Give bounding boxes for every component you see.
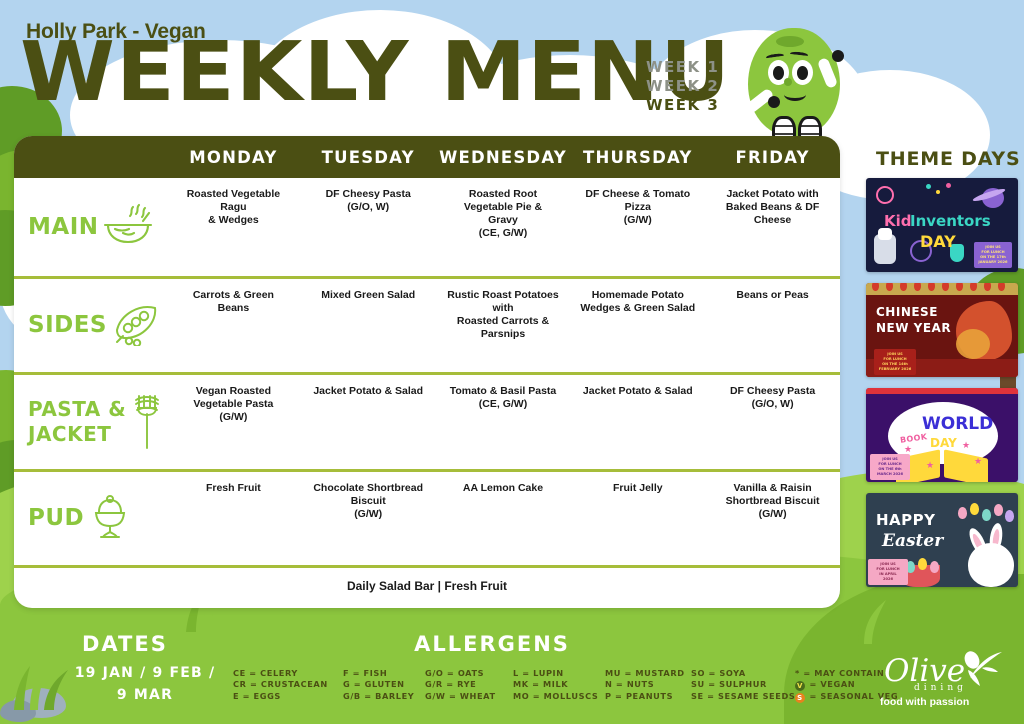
allergen-item: G/W = WHEAT [425,691,503,702]
table-row: PUD Fresh Fruit Chocolate [14,472,840,568]
soup-bowl-icon [103,203,153,252]
theme-poster-world-book-day[interactable]: ★ ★ ★ ★ BOOK WORLD DAY JOIN US FOR LUNCH… [866,388,1018,482]
vegan-badge-icon: V [795,681,805,691]
menu-cell: Fruit Jelly [570,472,705,565]
table-row: PASTA & JACKET Vegan Roasted Ve [14,375,840,472]
week-option-2[interactable]: WEEK 2 [646,77,719,96]
dates-title: DATES [82,632,168,656]
poster-line: WORLD [922,414,993,434]
allergen-item: P = PEANUTS [605,691,681,702]
menu-table-card: MONDAY TUESDAY WEDNESDAY THURSDAY FRIDAY… [14,136,840,608]
menu-cell: Homemade Potato Wedges & Green Salad [570,279,705,372]
pea-pod-icon [111,300,165,351]
grass-tuft [838,584,908,644]
poster-line: CHINESE [876,305,938,319]
allergen-item: SO = SOYA [691,668,785,679]
menu-cell: Roasted Vegetable Ragu & Wedges [166,178,301,276]
seasonal-badge-icon: S [795,693,805,703]
allergen-item: MK = MILK [513,679,595,690]
allergen-item: MO = MOLLUSCS [513,691,595,702]
allergen-item: N = NUTS [605,679,681,690]
theme-days-title: THEME DAYS [876,148,1020,170]
poster-line: HAPPY [876,511,936,529]
allergen-column: CE = CELERY CR = CRUSTACEAN E = EGGS [233,668,343,703]
menu-cell: DF Cheese & Tomato Pizza (G/W) [570,178,705,276]
allergen-item: CR = CRUSTACEAN [233,679,333,690]
poster-tag: JOIN US FOR LUNCH ON THE 6th MARCH 2026 [870,454,910,480]
poster-tag: JOIN US FOR LUNCH IN APRIL 2026 [868,559,908,585]
allergen-item: G/O = OATS [425,668,503,679]
allergen-item: SE = SESAME SEEDS [691,691,785,702]
row-label-text: PUD [28,506,84,531]
theme-poster-kid-inventors-day[interactable]: Kid Inventors DAY JOIN US FOR LUNCH ON T… [866,178,1018,272]
page-title: WEEKLY MENU [20,32,731,114]
allergen-item: F = FISH [343,668,415,679]
column-header-wednesday: WEDNESDAY [436,148,571,167]
logo-tagline: food with passion [880,696,969,708]
menu-cell: Jacket Potato & Salad [301,375,436,469]
poster-tag: JOIN US FOR LUNCH ON THE 17th JANUARY 20… [974,242,1012,268]
allergen-label: = VEGAN [809,679,855,689]
week-option-1[interactable]: WEEK 1 [646,58,719,77]
poster-line: NEW YEAR [876,321,951,335]
menu-cell: DF Cheesy Pasta (G/O, W) [301,178,436,276]
row-label-sides: SIDES [14,279,166,372]
theme-poster-chinese-new-year[interactable]: CHINESE NEW YEAR JOIN US FOR LUNCH ON TH… [866,283,1018,377]
allergen-column: L = LUPIN MK = MILK MO = MOLLUSCS [513,668,605,703]
column-header-friday: FRIDAY [705,148,840,167]
week-option-3[interactable]: WEEK 3 [646,96,719,115]
menu-cell: Fresh Fruit [166,472,301,565]
allergen-label: = MAY CONTAIN [803,668,884,678]
menu-cell: Tomato & Basil Pasta (CE, G/W) [436,375,571,469]
row-label-text: PASTA & JACKET [28,397,126,447]
row-label-pasta-jacket: PASTA & JACKET [14,375,166,469]
poster-line: Inventors [910,212,991,230]
allergen-item: MU = MUSTARD [605,668,681,679]
allergen-column: F = FISH G = GLUTEN G/B = BARLEY [343,668,425,703]
poster-line: DAY [920,232,956,251]
olive-mascot-icon [740,28,848,153]
allergen-item: G = GLUTEN [343,679,415,690]
poster-line: Easter [882,531,943,551]
menu-cell: Roasted Root Vegetable Pie & Gravy (CE, … [436,178,571,276]
allergen-column: SO = SOYA SU = SULPHUR SE = SESAME SEEDS [691,668,795,703]
menu-cell: Vanilla & Raisin Shortbread Biscuit (G/W… [705,472,840,565]
allergen-item: G/R = RYE [425,679,503,690]
poster-line: Kid [884,212,912,230]
menu-poster: Holly Park - Vegan WEEKLY MENU WEEK 1 WE… [0,0,1024,724]
menu-cell: Jacket Potato & Salad [570,375,705,469]
table-footer-row: Daily Salad Bar | Fresh Fruit [14,568,840,604]
row-label-text: MAIN [28,215,99,240]
menu-cell: Carrots & Green Beans [166,279,301,372]
menu-cell: Beans or Peas [705,279,840,372]
fork-pasta-icon [130,390,164,455]
logo-sub: dining [914,683,967,693]
poster-tag: JOIN US FOR LUNCH ON THE 14th FEBRUARY 2… [874,349,916,375]
theme-poster-happy-easter[interactable]: HAPPY Easter JOIN US FOR LUNCH IN APRIL … [866,493,1018,587]
allergens-legend: CE = CELERY CR = CRUSTACEAN E = EGGS F =… [233,668,915,703]
allergen-item: E = EGGS [233,691,333,702]
column-header-thursday: THURSDAY [570,148,705,167]
olive-dining-logo: Olive dining food with passion [878,650,1006,712]
menu-cell: AA Lemon Cake [436,472,571,565]
menu-cell: Chocolate Shortbread Biscuit (G/W) [301,472,436,565]
daily-salad-bar-text: Daily Salad Bar | Fresh Fruit [14,568,840,604]
allergens-title: ALLERGENS [414,632,570,656]
allergen-column: MU = MUSTARD N = NUTS P = PEANUTS [605,668,691,703]
allergen-item: CE = CELERY [233,668,333,679]
menu-cell: DF Cheesy Pasta (G/O, W) [705,375,840,469]
menu-cell: Vegan Roasted Vegetable Pasta (G/W) [166,375,301,469]
table-row: SIDES Carrots & [14,279,840,375]
menu-cell: Rustic Roast Potatoes with Roasted Carro… [436,279,571,372]
week-selector[interactable]: WEEK 1 WEEK 2 WEEK 3 [646,58,719,115]
column-header-monday: MONDAY [166,148,301,167]
menu-cell: Jacket Potato with Baked Beans & DF Chee… [705,178,840,276]
poster-line: DAY [930,436,957,450]
allergen-item: SU = SULPHUR [691,679,785,690]
allergen-item: L = LUPIN [513,668,595,679]
dates-value: 19 JAN / 9 FEB / 9 MAR [50,662,240,706]
row-label-pud: PUD [14,472,166,565]
column-header-tuesday: TUESDAY [301,148,436,167]
asterisk-icon: * [795,668,800,678]
menu-cell: Mixed Green Salad [301,279,436,372]
allergen-column: G/O = OATS G/R = RYE G/W = WHEAT [425,668,513,703]
row-label-main: MAIN [14,178,166,276]
allergen-item: G/B = BARLEY [343,691,415,702]
row-label-text: SIDES [28,313,107,338]
ice-cream-sundae-icon [88,492,132,545]
table-row: MAIN [14,178,840,279]
table-header-row: MONDAY TUESDAY WEDNESDAY THURSDAY FRIDAY [14,136,840,178]
